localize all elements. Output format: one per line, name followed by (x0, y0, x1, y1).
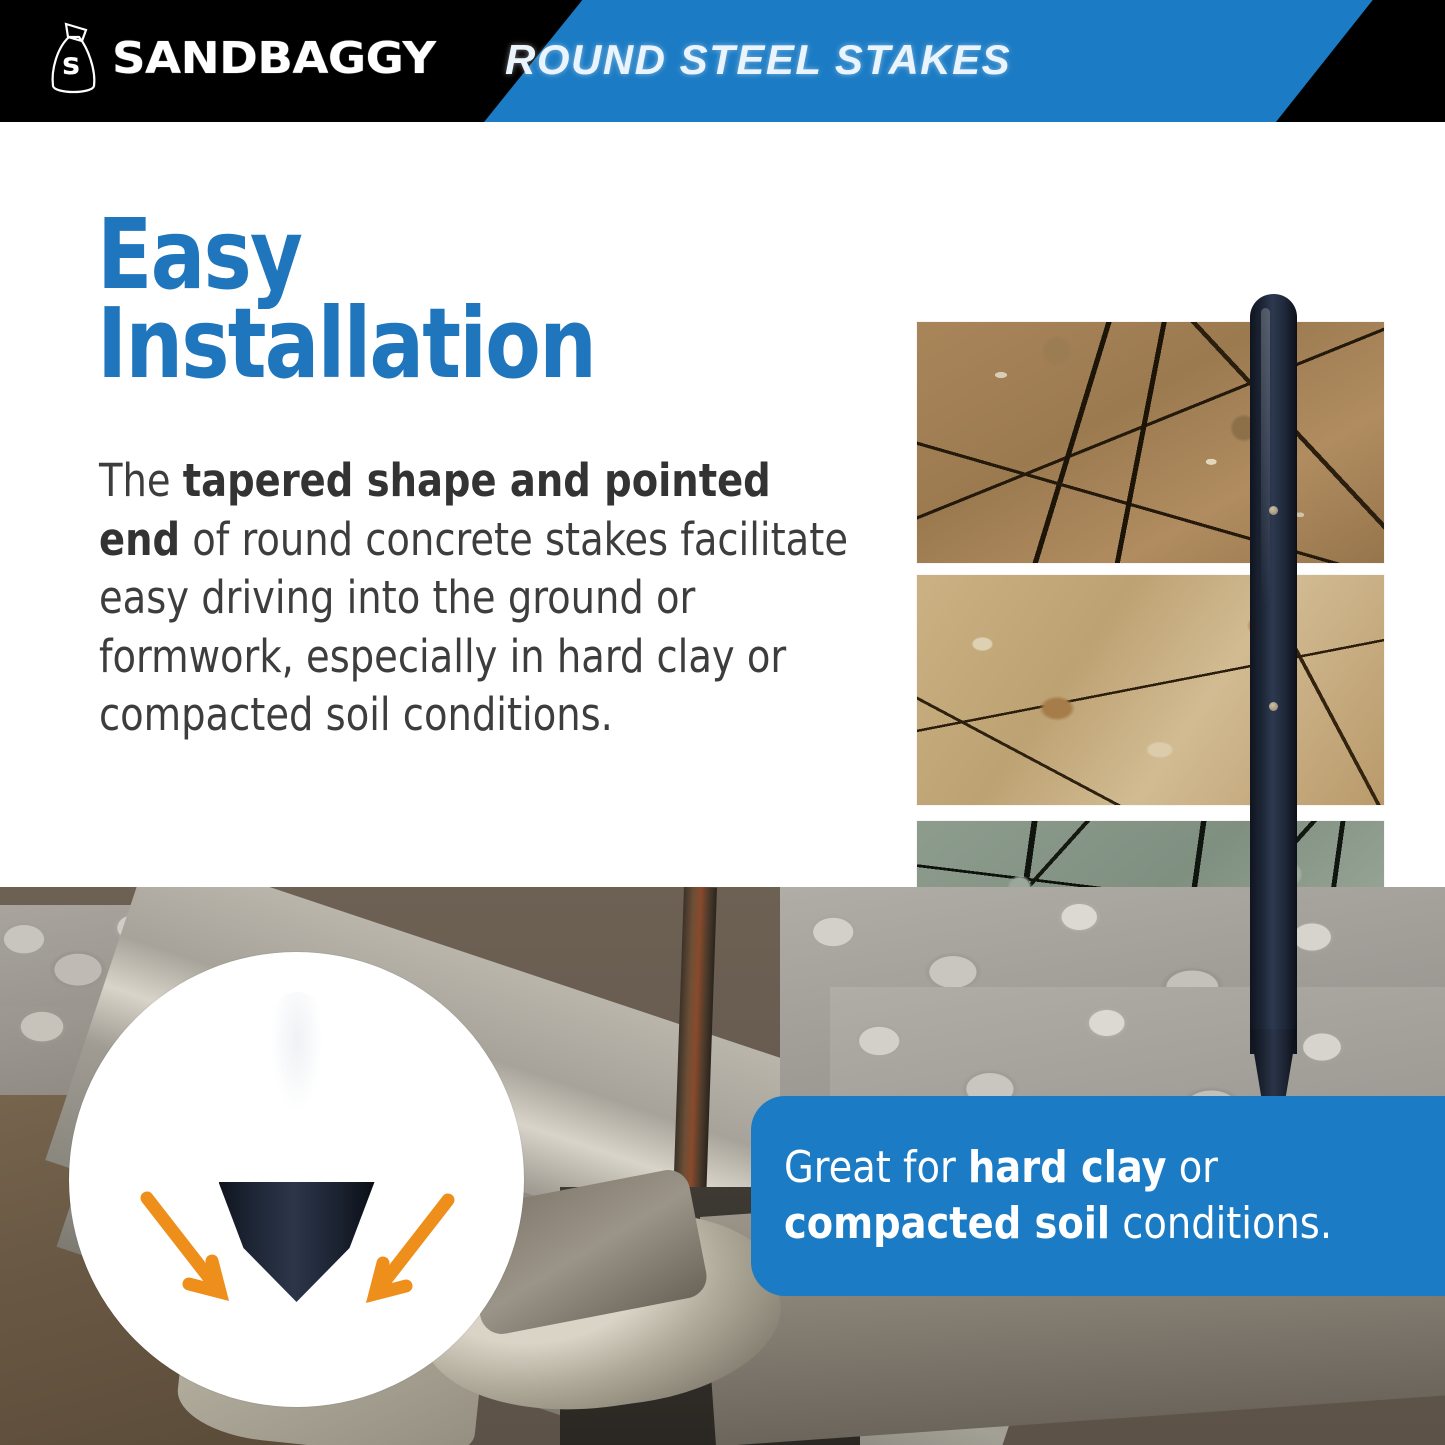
stake-hole (1269, 506, 1278, 515)
callout-part-2: or (1167, 1142, 1218, 1193)
soil-panel-cracked-brown-clay (917, 322, 1384, 563)
callout-text: Great for hard clay or compacted soil co… (751, 1140, 1424, 1253)
callout-part-3: conditions. (1110, 1198, 1332, 1249)
taper-arrow-left (147, 1198, 220, 1292)
callout-banner: Great for hard clay or compacted soil co… (751, 1096, 1445, 1296)
soil-panel-tan-rocky-compacted (917, 575, 1384, 805)
stake-shaft (1250, 294, 1297, 1054)
infographic-root: s SANDBAGGY ROUND STEEL STAKES Easy Inst… (0, 0, 1445, 1445)
stake-hole (1269, 702, 1278, 711)
body-text-part-2: of round concrete stakes facilitate easy… (99, 513, 848, 742)
body-paragraph: The tapered shape and pointed end of rou… (99, 452, 850, 745)
brand-logo: s SANDBAGGY (46, 22, 417, 96)
taper-arrow-right (375, 1200, 448, 1294)
upper-content-panel: Easy Installation The tapered shape and … (0, 122, 1445, 887)
body-text-part-1: The (99, 454, 183, 507)
sandbag-icon: s (46, 22, 102, 96)
brand-name: SANDBAGGY (112, 37, 436, 81)
callout-bold-2: compacted soil (784, 1198, 1110, 1249)
stake-highlight (1261, 308, 1270, 608)
header-bar: s SANDBAGGY ROUND STEEL STAKES (0, 0, 1445, 122)
callout-bold-1: hard clay (968, 1142, 1167, 1193)
page-title: Easy Installation (97, 210, 748, 388)
callout-part-1: Great for (784, 1142, 968, 1193)
headline-line-2: Installation (97, 299, 748, 388)
stake-tip-closeup-inset (69, 952, 524, 1407)
sandbag-icon-letter: s (62, 47, 80, 82)
header-title: ROUND STEEL STAKES (505, 36, 1011, 84)
round-steel-stake (1250, 294, 1297, 1139)
